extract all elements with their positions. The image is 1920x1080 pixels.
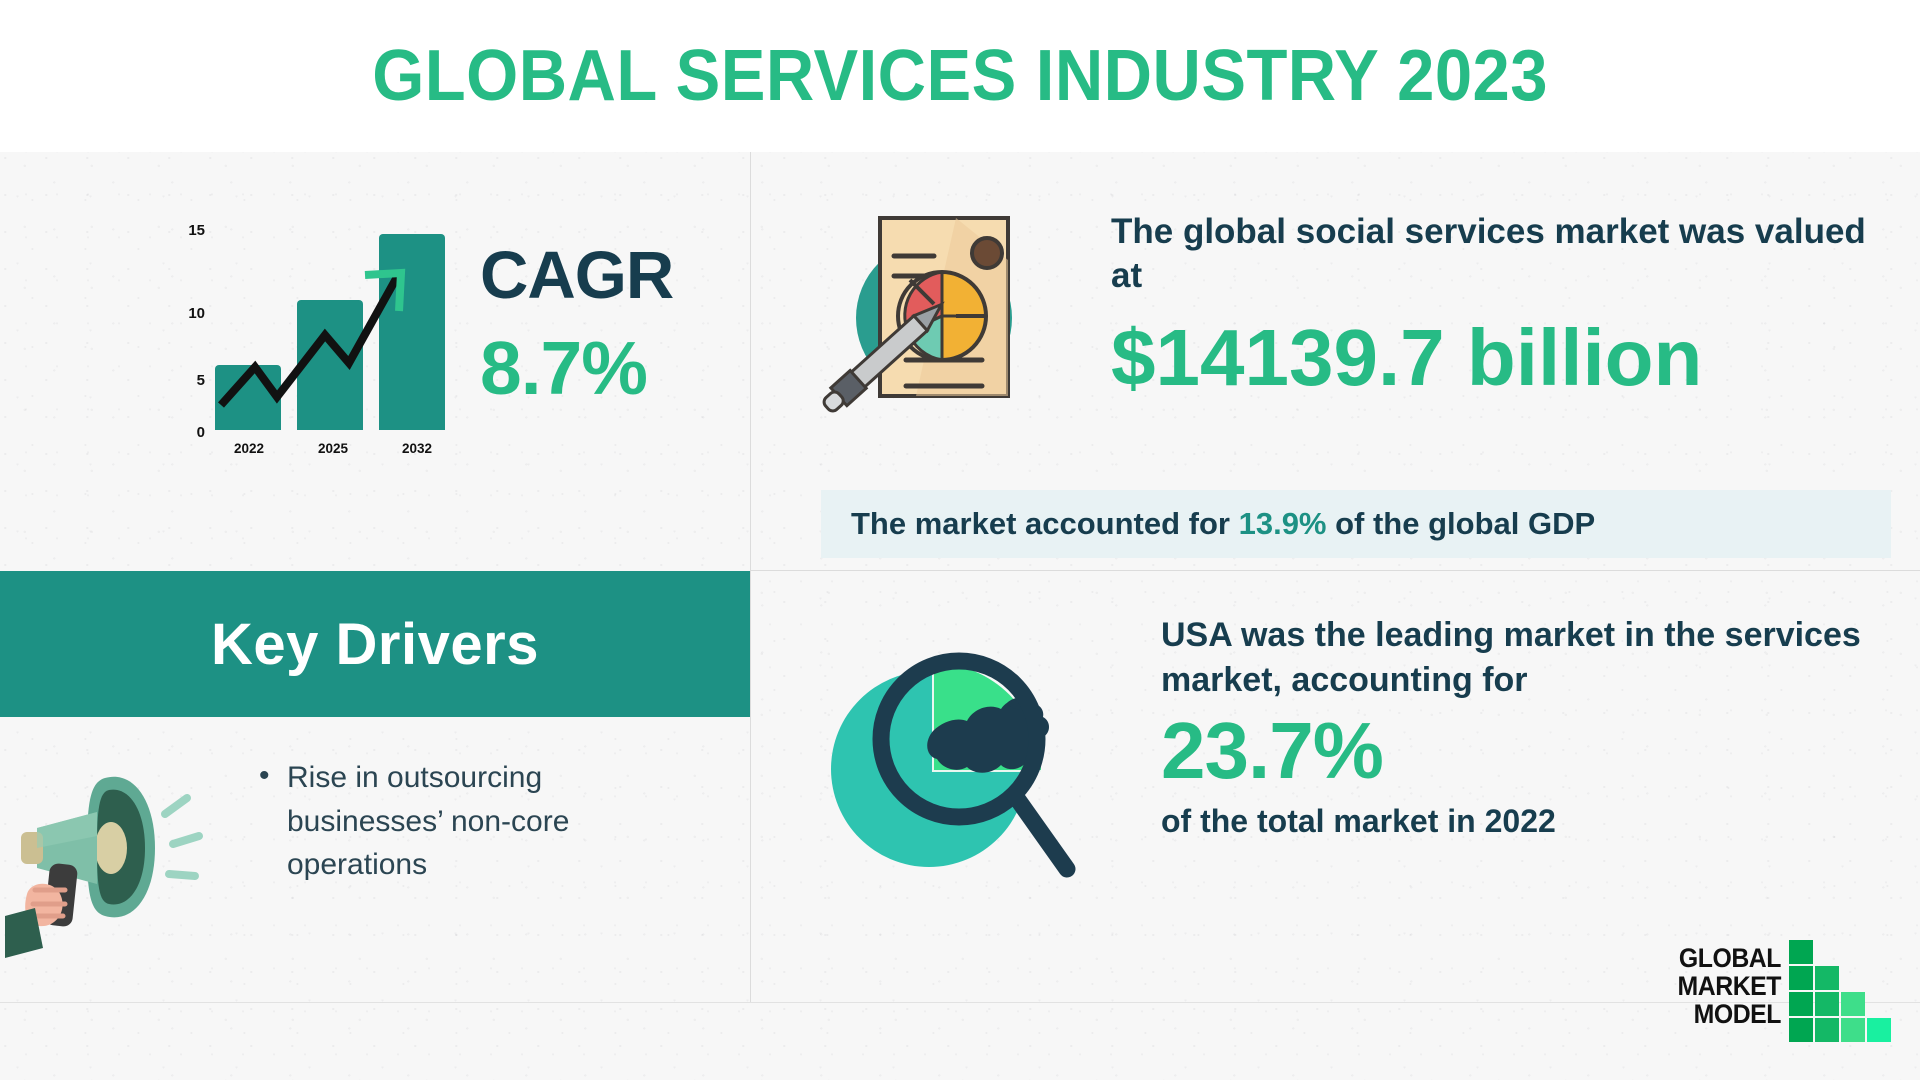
- usa-readout: USA was the leading market in the servic…: [1161, 613, 1881, 840]
- gdp-prefix: The market accounted for: [851, 506, 1239, 541]
- bar-2032: [379, 234, 445, 430]
- key-drivers-title: Key Drivers: [211, 611, 539, 678]
- logo-line-2: MARKET: [1672, 972, 1781, 1000]
- page-title: GLOBAL SERVICES INDUSTRY 2023: [372, 35, 1548, 117]
- market-value-panel: The global social services market was va…: [751, 152, 1920, 570]
- key-drivers-band: Key Drivers: [0, 571, 750, 717]
- global-market-model-logo: GLOBAL MARKET MODEL: [1663, 940, 1888, 1052]
- bar-chart: 15 10 5 0 2022 2025 2032: [175, 212, 455, 472]
- gdp-suffix: of the global GDP: [1327, 506, 1596, 541]
- y-tick-0: 0: [175, 424, 205, 441]
- key-drivers-panel: Key Drivers Rise in outsourcing business…: [0, 571, 750, 1002]
- cagr-label: CAGR: [480, 242, 740, 309]
- horizontal-divider-right: [750, 570, 1920, 571]
- gdp-banner: The market accounted for 13.9% of the gl…: [821, 490, 1891, 558]
- gdp-banner-text: The market accounted for 13.9% of the gl…: [851, 506, 1595, 542]
- logo-squares-icon: [1789, 940, 1889, 1044]
- infographic-page: GLOBAL SERVICES INDUSTRY 2023 15 10 5 0 …: [0, 0, 1920, 1080]
- megaphone-hand-icon: [5, 756, 215, 961]
- market-value-amount: $14139.7 billion: [1111, 316, 1871, 400]
- bar-2025: [297, 300, 363, 430]
- key-drivers-list: Rise in outsourcing businesses’ non-core…: [255, 756, 655, 887]
- market-value-headline: The global social services market was va…: [1111, 210, 1871, 298]
- cagr-panel: 15 10 5 0 2022 2025 2032 CAGR 8.7%: [0, 152, 750, 570]
- x-label-2022: 2022: [215, 441, 283, 456]
- cagr-readout: CAGR 8.7%: [480, 242, 740, 406]
- gdp-highlight: 13.9%: [1239, 506, 1327, 541]
- list-item: Rise in outsourcing businesses’ non-core…: [255, 756, 655, 887]
- x-label-2025: 2025: [299, 441, 367, 456]
- usa-value: 23.7%: [1161, 709, 1881, 793]
- vertical-divider: [750, 152, 751, 1002]
- cagr-value: 8.7%: [480, 331, 740, 406]
- page-header: GLOBAL SERVICES INDUSTRY 2023: [0, 0, 1920, 152]
- logo-line-1: GLOBAL: [1672, 944, 1781, 972]
- y-tick-15: 15: [175, 222, 205, 239]
- logo-line-3: MODEL: [1672, 1000, 1781, 1028]
- y-tick-10: 10: [175, 305, 205, 322]
- usa-share-panel: USA was the leading market in the servic…: [751, 571, 1920, 1002]
- y-tick-5: 5: [175, 372, 205, 389]
- logo-wordmark: GLOBAL MARKET MODEL: [1663, 944, 1781, 1028]
- usa-headline: USA was the leading market in the servic…: [1161, 613, 1881, 703]
- document-pie-chart-pen-icon: [806, 200, 1036, 440]
- bar-2022: [215, 365, 281, 430]
- bar-group: [215, 220, 445, 430]
- x-label-2032: 2032: [383, 441, 451, 456]
- magnifier-map-icon: [811, 621, 1091, 901]
- usa-subtext: of the total market in 2022: [1161, 803, 1881, 840]
- horizontal-divider-bottom: [0, 1002, 1920, 1003]
- market-value-readout: The global social services market was va…: [1111, 210, 1871, 400]
